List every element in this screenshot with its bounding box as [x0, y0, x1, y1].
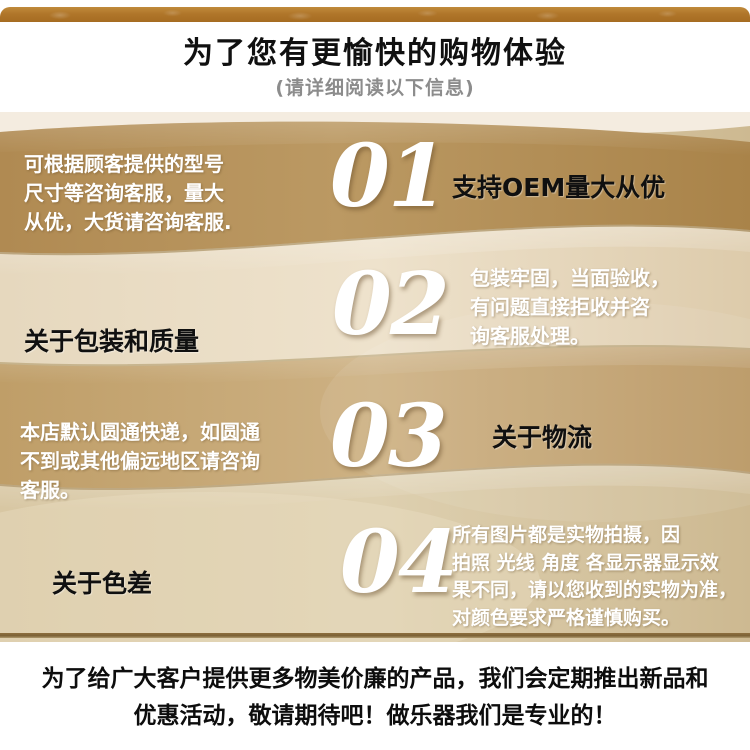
section-heading-04: 关于色差 — [52, 564, 302, 600]
section-number-03: 03 — [330, 394, 446, 480]
footer-line-1: 为了给广大客户提供更多物美价廉的产品，我们会定期推出新品和 — [25, 661, 725, 698]
section-number-02: 02 — [332, 262, 448, 348]
sections-container: 01 可根据顾客提供的型号 尺寸等咨询客服，量大 从优，大货请咨询客服. 支持O… — [0, 112, 750, 642]
section-heading-01: 支持OEM量大从优 — [452, 168, 742, 204]
section-body-01: 可根据顾客提供的型号 尺寸等咨询客服，量大 从优，大货请咨询客服. — [24, 150, 314, 237]
section-number-04: 04 — [340, 520, 456, 606]
shopping-notice-graphic: 为了您有更愉快的购物体验 (请详细阅读以下信息) — [0, 0, 750, 750]
header-ornament-bar — [0, 7, 750, 22]
section-heading-03: 关于物流 — [492, 418, 742, 454]
page-title: 为了您有更愉快的购物体验 — [0, 28, 750, 72]
header: 为了您有更愉快的购物体验 (请详细阅读以下信息) — [0, 0, 750, 112]
footer-line-2: 优惠活动，敬请期待吧！做乐器我们是专业的！ — [25, 698, 725, 735]
footer: 为了给广大客户提供更多物美价廉的产品，我们会定期推出新品和 优惠活动，敬请期待吧… — [0, 645, 750, 750]
section-body-02: 包装牢固，当面验收， 有问题直接拒收并咨 询客服处理。 — [470, 264, 740, 351]
section-body-04: 所有图片都是实物拍摄，因 拍照 光线 角度 各显示器显示效 果不同，请以您收到的… — [452, 522, 750, 632]
section-body-03: 本店默认圆通快递，如圆通 不到或其他偏远地区请咨询 客服。 — [20, 418, 330, 505]
page-subtitle: (请详细阅读以下信息) — [0, 73, 750, 100]
section-number-01: 01 — [330, 134, 446, 220]
section-heading-02: 关于包装和质量 — [24, 322, 324, 358]
